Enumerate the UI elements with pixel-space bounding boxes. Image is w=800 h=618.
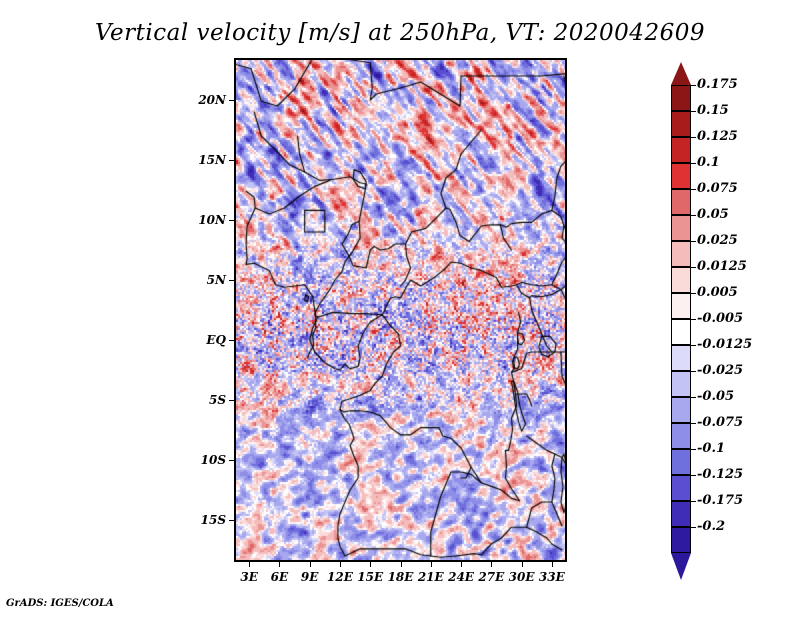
y-axis-label: 5N — [164, 273, 226, 287]
footer-credit: GrADS: IGES/COLA — [6, 598, 114, 609]
y-axis-label: EQ — [164, 333, 226, 347]
colorbar-label: 0.075 — [697, 182, 738, 195]
colorbar-label: 0.175 — [697, 78, 738, 91]
map-panel — [234, 58, 567, 562]
colorbar-max-arrow — [671, 62, 691, 85]
colorbar-label: -0.175 — [697, 494, 743, 507]
x-axis-tick — [310, 562, 311, 567]
colorbar-label: -0.125 — [697, 468, 743, 481]
colorbar-swatch — [671, 527, 691, 553]
colorbar-label: -0.05 — [697, 390, 734, 403]
colorbar-swatch — [671, 371, 691, 397]
colorbar-tick — [691, 163, 696, 164]
colorbar-label: 0.0125 — [697, 260, 747, 273]
colorbar-tick — [691, 345, 696, 346]
colorbar-label: 0.125 — [697, 130, 738, 143]
colorbar-label: 0.025 — [697, 234, 738, 247]
colorbar-swatch — [671, 267, 691, 293]
colorbar-swatch — [671, 475, 691, 501]
colorbar-tick — [691, 137, 696, 138]
vertical-velocity-heatmap — [234, 58, 567, 562]
x-axis-tick — [279, 562, 280, 567]
colorbar-label: -0.0125 — [697, 338, 752, 351]
colorbar-tick — [691, 423, 696, 424]
colorbar-swatch — [671, 345, 691, 371]
colorbar-label: -0.2 — [697, 520, 725, 533]
colorbar-tick — [691, 189, 696, 190]
colorbar-tick — [691, 111, 696, 112]
y-axis-tick — [229, 160, 234, 161]
y-axis-tick — [229, 520, 234, 521]
y-axis-tick — [229, 100, 234, 101]
y-axis-tick — [229, 220, 234, 221]
colorbar-swatch — [671, 85, 691, 111]
x-axis-tick — [431, 562, 432, 567]
y-axis-label: 10N — [164, 213, 226, 227]
colorbar-label: 0.1 — [697, 156, 720, 169]
colorbar-swatch — [671, 137, 691, 163]
colorbar-swatch — [671, 215, 691, 241]
colorbar-tick — [691, 319, 696, 320]
colorbar-swatch — [671, 241, 691, 267]
colorbar-swatch — [671, 397, 691, 423]
figure-root: Vertical velocity [m/s] at 250hPa, VT: 2… — [0, 0, 800, 618]
colorbar-label: 0.005 — [697, 286, 738, 299]
colorbar-swatch — [671, 163, 691, 189]
colorbar-label: -0.005 — [697, 312, 743, 325]
colorbar-swatch — [671, 423, 691, 449]
colorbar: 0.1750.150.1250.10.0750.050.0250.01250.0… — [671, 62, 691, 554]
x-axis-tick — [461, 562, 462, 567]
colorbar-label: 0.15 — [697, 104, 729, 117]
colorbar-swatch — [671, 189, 691, 215]
colorbar-swatch — [671, 293, 691, 319]
colorbar-tick — [691, 215, 696, 216]
y-axis-label: 15N — [164, 153, 226, 167]
y-axis-tick — [229, 400, 234, 401]
y-axis-tick — [229, 340, 234, 341]
x-axis-tick — [491, 562, 492, 567]
colorbar-tick — [691, 475, 696, 476]
colorbar-swatch — [671, 501, 691, 527]
colorbar-label: -0.075 — [697, 416, 743, 429]
colorbar-tick — [691, 293, 696, 294]
colorbar-tick — [691, 449, 696, 450]
colorbar-tick — [691, 371, 696, 372]
colorbar-tick — [691, 397, 696, 398]
colorbar-swatch — [671, 111, 691, 137]
page-title: Vertical velocity [m/s] at 250hPa, VT: 2… — [0, 20, 800, 46]
colorbar-swatch — [671, 449, 691, 475]
y-axis-label: 5S — [164, 393, 226, 407]
x-axis-tick — [552, 562, 553, 567]
y-axis-label: 15S — [164, 513, 226, 527]
colorbar-tick — [691, 267, 696, 268]
x-axis-tick — [522, 562, 523, 567]
colorbar-min-arrow — [671, 553, 691, 580]
x-axis-tick — [340, 562, 341, 567]
x-axis-tick — [401, 562, 402, 567]
y-axis-label: 10S — [164, 453, 226, 467]
y-axis-tick — [229, 460, 234, 461]
colorbar-tick — [691, 85, 696, 86]
colorbar-label: 0.05 — [697, 208, 729, 221]
colorbar-tick — [691, 241, 696, 242]
colorbar-label: -0.1 — [697, 442, 725, 455]
colorbar-tick — [691, 527, 696, 528]
colorbar-swatch — [671, 319, 691, 345]
x-axis-label: 33E — [527, 570, 577, 584]
colorbar-tick — [691, 501, 696, 502]
x-axis-tick — [249, 562, 250, 567]
x-axis-tick — [370, 562, 371, 567]
colorbar-label: -0.025 — [697, 364, 743, 377]
y-axis-label: 20N — [164, 93, 226, 107]
y-axis-tick — [229, 280, 234, 281]
